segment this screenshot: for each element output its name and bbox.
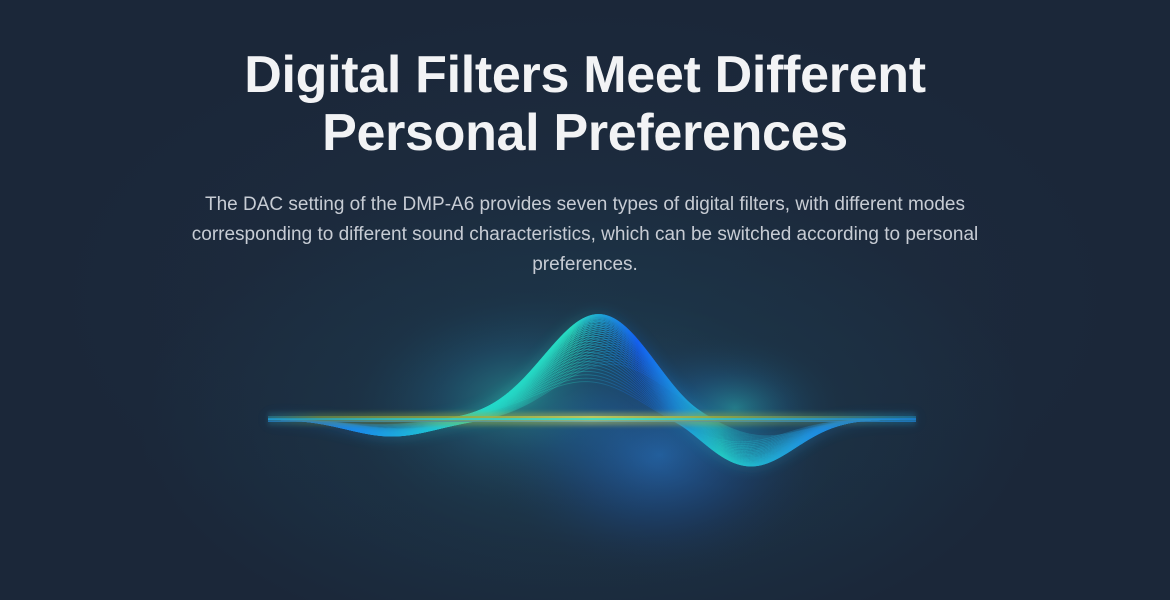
waveform-strand [268, 368, 916, 449]
waveform-strand [268, 349, 916, 442]
waveform-strand [268, 317, 916, 466]
waveform-strand [268, 352, 916, 456]
waveform-strand [268, 378, 916, 443]
waveform-strand [268, 320, 916, 457]
waveform-strand [268, 316, 916, 460]
waveform-strand [268, 332, 916, 464]
waveform-strand [268, 318, 916, 459]
waveform-strand [268, 349, 916, 457]
waveform-strand [268, 318, 916, 466]
waveform-strand-halo [268, 364, 916, 436]
waveform-strand [268, 324, 916, 454]
page-description: The DAC setting of the DMP-A6 provides s… [190, 162, 980, 280]
waveform-strand [268, 324, 916, 465]
waveform-strand [268, 371, 916, 447]
waveform-strand-halo [268, 321, 916, 456]
waveform-strand-halo [268, 340, 916, 447]
waveform-strand [268, 316, 916, 466]
waveform-strand [268, 358, 916, 453]
waveform-strand [268, 336, 916, 462]
page-title-line-2: Personal Preferences [0, 104, 1170, 162]
waveform-strand-halo [268, 316, 916, 460]
waveform-strand [268, 333, 916, 449]
waveform-strand-halo [268, 371, 916, 447]
waveform-strand [268, 382, 916, 442]
waveform-halo [268, 314, 916, 465]
waveform-strand [268, 329, 916, 451]
hero-banner: Digital Filters Meet Different Personal … [0, 0, 1170, 600]
waveform-strand [268, 351, 916, 441]
waveform-strand [268, 315, 916, 462]
waveform-strand [268, 330, 916, 464]
waveform-strand [268, 321, 916, 456]
page-title-line-1: Digital Filters Meet Different [244, 46, 926, 104]
waveform-strand [268, 355, 916, 454]
waveform-strand-halo [268, 321, 916, 466]
waveform-strand [268, 315, 916, 465]
waveform-strand [268, 316, 916, 462]
waveform-strand [268, 323, 916, 456]
hero-text-block: Digital Filters Meet Different Personal … [0, 0, 1170, 280]
waveform-strand-halo [268, 355, 916, 454]
waveform-strand-halo [268, 329, 916, 451]
waveform-strand [268, 364, 916, 436]
waveform-strand [268, 337, 916, 447]
waveform-strand [268, 315, 916, 464]
waveform-strand [268, 319, 916, 466]
waveform-strand-halo [268, 341, 916, 460]
waveform-strand [268, 328, 916, 465]
waveform-strand [268, 365, 916, 451]
waveform-strand [268, 328, 916, 453]
waveform-strand [268, 323, 916, 466]
waveform-lines [268, 314, 916, 466]
waveform-strand [268, 359, 916, 438]
page-title: Digital Filters Meet Different Personal … [0, 0, 1170, 162]
waveform-strand [268, 346, 916, 443]
waveform-strand [268, 340, 916, 447]
waveform-strand [268, 341, 916, 460]
waveform-strand [268, 344, 916, 460]
waveform-strand [268, 321, 916, 466]
waveform-strand [268, 315, 916, 463]
waveform-strand [268, 354, 916, 440]
waveform-strand [268, 315, 916, 465]
waveform-strand [268, 315, 916, 465]
waveform-strand [268, 314, 916, 463]
waveform-strand [268, 320, 916, 466]
waveform-strand [268, 317, 916, 460]
waveform-strand [268, 315, 916, 465]
waveform-strand-halo [268, 351, 916, 441]
waveform-strand [268, 375, 916, 446]
waveform-strand [268, 326, 916, 465]
waveform-strand [268, 342, 916, 445]
waveform-strand [268, 331, 916, 450]
waveform-strand [268, 334, 916, 463]
waveform-strand [268, 319, 916, 458]
waveform-strand-halo [268, 314, 916, 463]
waveform-strand-halo [268, 330, 916, 464]
waveform-strand [268, 335, 916, 448]
waveform-axis-band [268, 413, 916, 426]
waveform-strand [268, 344, 916, 444]
waveform-strand [268, 361, 916, 436]
waveform-strand [268, 356, 916, 438]
waveform-strand-halo [268, 316, 916, 466]
waveform-strand [268, 362, 916, 452]
waveform-strand [268, 339, 916, 462]
waveform-strand [268, 326, 916, 454]
waveform-strand [268, 347, 916, 459]
